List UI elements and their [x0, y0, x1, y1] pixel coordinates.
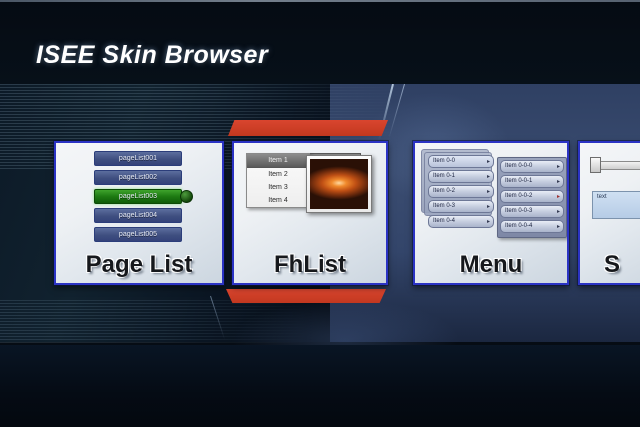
list-item[interactable]: Item 2: [247, 168, 309, 181]
submenu-item-label: Item 0-0-4: [505, 223, 532, 229]
chevron-right-icon: ▸: [557, 207, 560, 218]
submenu-item[interactable]: Item 0-0-0 ▸: [500, 160, 564, 173]
slider-preview: text: [580, 143, 640, 241]
sunset-image: [310, 159, 368, 209]
chevron-right-icon: ▸: [557, 162, 560, 173]
submenu-item[interactable]: Item 0-0-2 ▸: [500, 190, 564, 203]
panel-page-list[interactable]: pageList001 pageList002 pageList003 page…: [54, 141, 224, 285]
slider-info-box: text: [592, 191, 640, 219]
submenu-item-label: Item 0-0-0: [505, 163, 532, 169]
menu-item-label: Item 0-1: [433, 173, 455, 179]
panel-label-menu: Menu: [415, 251, 567, 279]
fhlist-preview: Item 1 Item 2 Item 3 Item 4: [234, 143, 386, 241]
list-item[interactable]: pageList005: [94, 227, 182, 242]
chevron-right-icon: ▸: [487, 157, 490, 168]
menu-item-label: Item 0-2: [433, 188, 455, 194]
chevron-right-icon: ▸: [557, 192, 560, 203]
submenu-item-label: Item 0-0-3: [505, 208, 532, 214]
scanline-texture-lower: [0, 300, 330, 346]
list-item-label: pageList003: [119, 193, 157, 200]
panel-slider[interactable]: text S: [578, 141, 640, 285]
submenu-item-label: Item 0-0-2: [505, 193, 532, 199]
submenu-item[interactable]: Item 0-0-4 ▸: [500, 220, 564, 233]
list-item[interactable]: pageList004: [94, 208, 182, 223]
submenu-item[interactable]: Item 0-0-1 ▸: [500, 175, 564, 188]
page-list-preview: pageList001 pageList002 pageList003 page…: [56, 143, 222, 241]
panel-menu[interactable]: Item 0-0 ▸ Item 0-1 ▸ Item 0-2 ▸ Item 0-…: [413, 141, 569, 285]
menu-preview: Item 0-0 ▸ Item 0-1 ▸ Item 0-2 ▸ Item 0-…: [415, 143, 567, 241]
menu-item[interactable]: Item 0-4 ▸: [428, 215, 494, 228]
chevron-right-icon: ▸: [487, 202, 490, 213]
list-item[interactable]: pageList001: [94, 151, 182, 166]
slider-box-label: text: [597, 194, 607, 200]
chevron-right-icon: ▸: [487, 187, 490, 198]
chevron-right-icon: ▸: [487, 172, 490, 183]
accent-bar-bottom: [226, 289, 386, 303]
chevron-right-icon: ▸: [557, 177, 560, 188]
sunset-photo-thumbnail[interactable]: [306, 155, 372, 213]
menu-item-label: Item 0-3: [433, 203, 455, 209]
app-screen: ISEE Skin Browser pageList001 pageList00…: [0, 0, 640, 427]
menu-item[interactable]: Item 0-3 ▸: [428, 200, 494, 213]
list-item[interactable]: pageList002: [94, 170, 182, 185]
top-edge-line: [0, 0, 640, 2]
selection-knob-icon[interactable]: [180, 190, 193, 203]
menu-second-level[interactable]: Item 0-0-0 ▸ Item 0-0-1 ▸ Item 0-0-2 ▸ I…: [497, 157, 567, 238]
menu-first-level[interactable]: Item 0-0 ▸ Item 0-1 ▸ Item 0-2 ▸ Item 0-…: [428, 155, 494, 230]
panel-fhlist[interactable]: Item 1 Item 2 Item 3 Item 4 FhList: [232, 141, 388, 285]
submenu-item-label: Item 0-0-1: [505, 178, 532, 184]
fhlist-header-item[interactable]: Item 1: [247, 154, 309, 168]
fhlist-menu[interactable]: Item 1 Item 2 Item 3 Item 4: [246, 153, 310, 208]
footer-background: [0, 345, 640, 427]
menu-item[interactable]: Item 0-1 ▸: [428, 170, 494, 183]
chevron-right-icon: ▸: [487, 217, 490, 228]
page-title: ISEE Skin Browser: [36, 41, 268, 70]
panel-label-slider: S: [580, 251, 640, 279]
page-list-items: pageList001 pageList002 pageList003 page…: [94, 151, 182, 246]
panel-label-fhlist: FhList: [234, 251, 386, 279]
chevron-right-icon: ▸: [557, 222, 560, 233]
menu-item[interactable]: Item 0-0 ▸: [428, 155, 494, 168]
submenu-item[interactable]: Item 0-0-3 ▸: [500, 205, 564, 218]
list-item[interactable]: Item 4: [247, 194, 309, 207]
list-item[interactable]: Item 3: [247, 181, 309, 194]
menu-item-label: Item 0-0: [433, 158, 455, 164]
panel-label-page-list: Page List: [56, 251, 222, 279]
menu-item[interactable]: Item 0-2 ▸: [428, 185, 494, 198]
accent-bar-top: [228, 120, 388, 136]
list-item-selected[interactable]: pageList003: [94, 189, 182, 204]
menu-item-label: Item 0-4: [433, 218, 455, 224]
slider-handle[interactable]: [590, 157, 601, 173]
